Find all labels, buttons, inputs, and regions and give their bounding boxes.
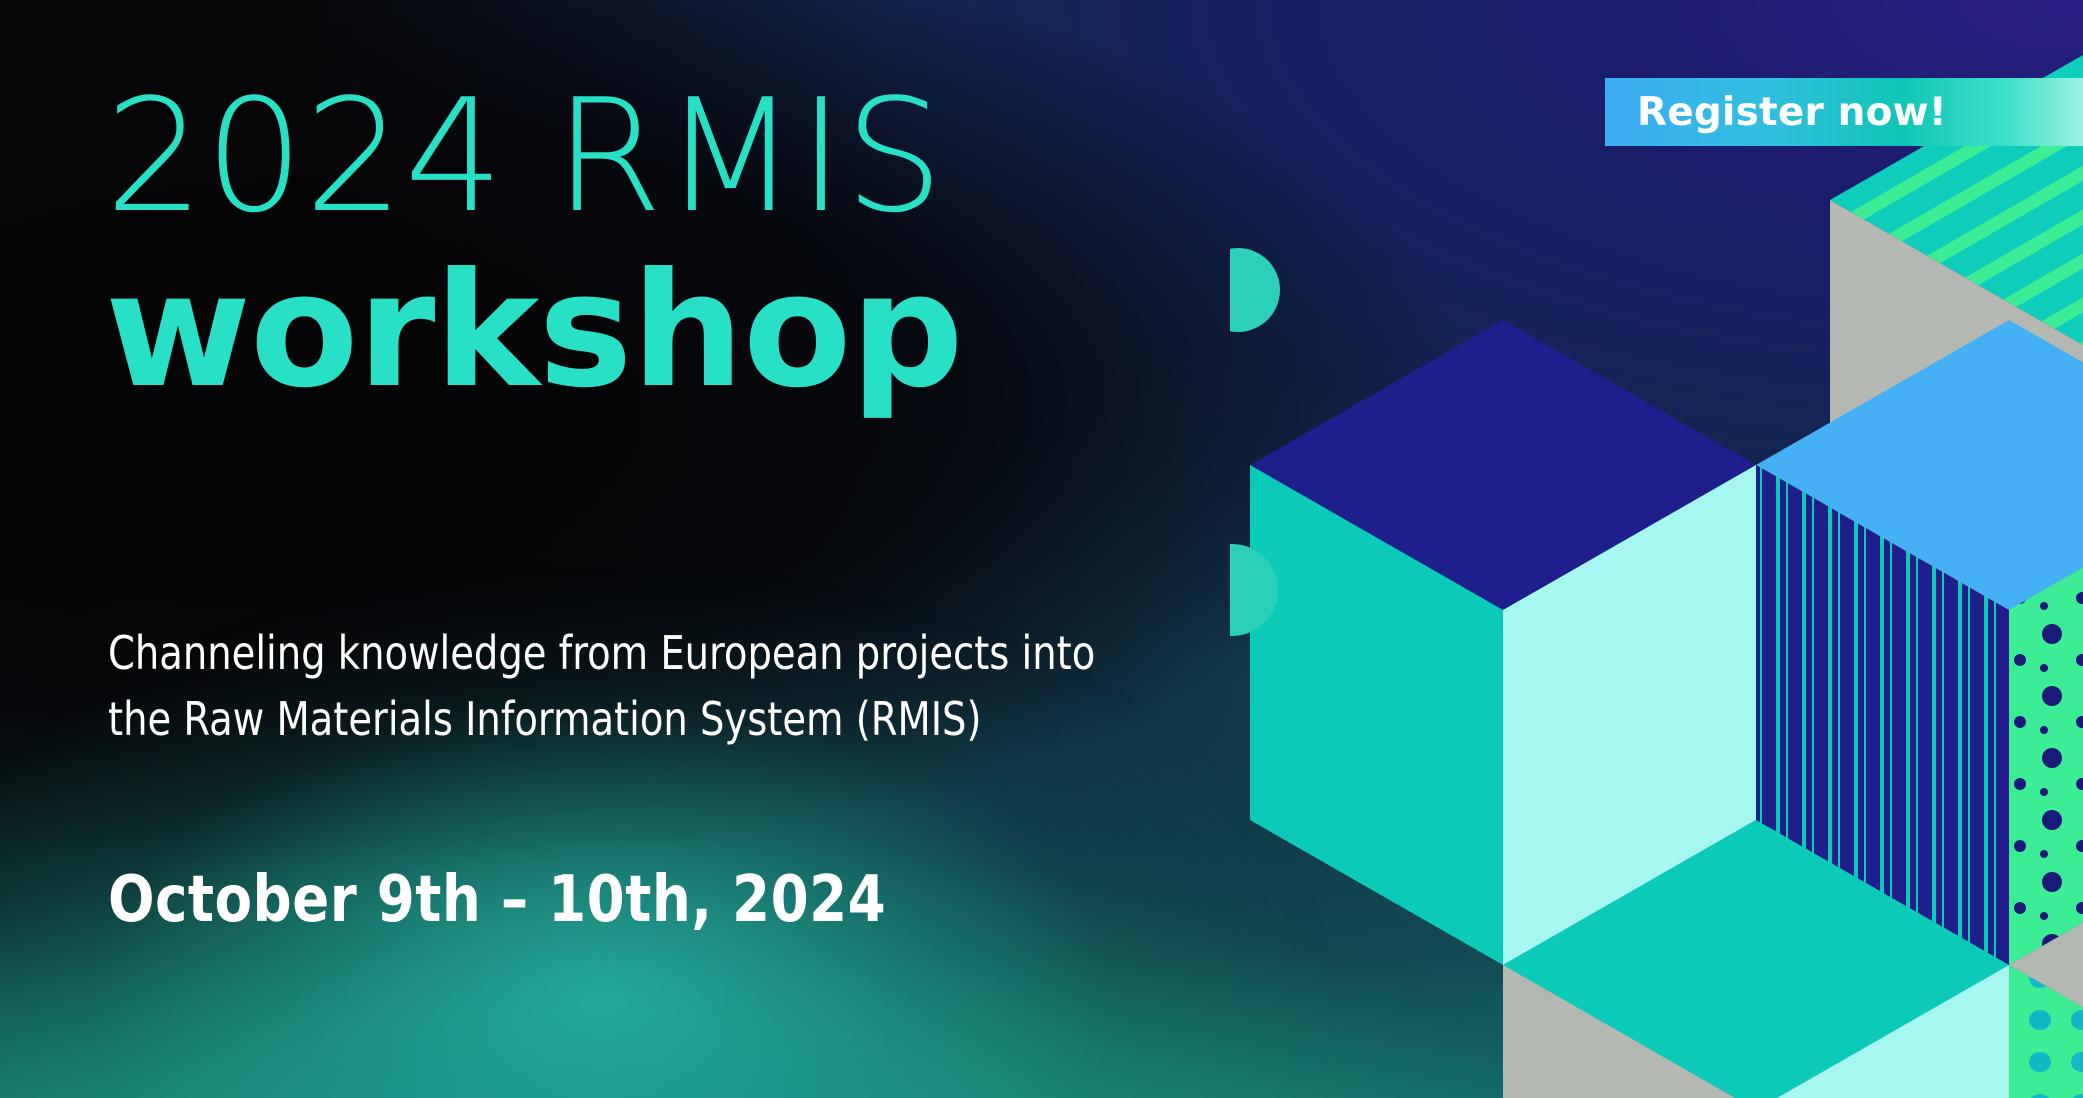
background-accent-dots xyxy=(1230,248,1280,636)
rmis-workshop-banner: 2024 RMIS workshop Channeling knowledge … xyxy=(0,0,2083,1098)
register-now-label: Register now! xyxy=(1637,93,1947,132)
register-now-button[interactable]: Register now! xyxy=(1605,78,2083,146)
isometric-cubes-illustration xyxy=(1230,0,2083,1098)
